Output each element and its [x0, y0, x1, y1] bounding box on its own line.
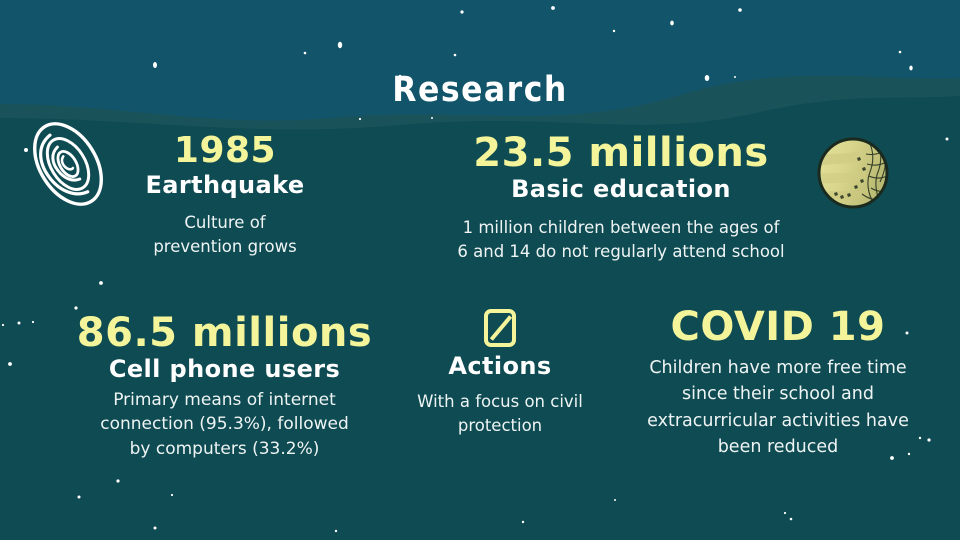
stat-body: Primary means of internet connection (95… — [52, 388, 397, 462]
stat-body: Culture of prevention grows — [100, 211, 350, 259]
stat-block-actions: Actions With a focus on civil protection — [398, 306, 602, 437]
stat-figure: 86.5 millions — [52, 312, 397, 355]
stat-figure: 23.5 millions — [418, 132, 824, 175]
stat-label: Basic education — [418, 176, 824, 204]
stat-block-covid: COVID 19 Children have more free time si… — [628, 306, 928, 460]
presentation-slide: Research 1985 Earthquake Culture of prev… — [0, 0, 960, 540]
stat-figure: COVID 19 — [628, 306, 928, 349]
stat-block-earthquake: 1985 Earthquake Culture of prevention gr… — [100, 132, 350, 259]
page-title: Research — [0, 70, 960, 110]
stat-figure — [398, 306, 602, 347]
stat-block-basic-education: 23.5 millions Basic education 1 million … — [418, 132, 824, 264]
slide-content: Research 1985 Earthquake Culture of prev… — [0, 0, 960, 540]
stat-block-cellphone: 86.5 millions Cell phone users Primary m… — [52, 312, 397, 462]
slashed-zero-icon — [484, 309, 516, 347]
stat-label: Cell phone users — [52, 356, 397, 384]
stat-body: Children have more free time since their… — [628, 355, 928, 460]
stat-body: 1 million children between the ages of 6… — [418, 216, 824, 264]
stat-label: Actions — [398, 353, 602, 381]
stat-figure: 1985 — [100, 132, 350, 171]
stat-body: With a focus on civil protection — [398, 390, 602, 438]
stat-label: Earthquake — [100, 172, 350, 200]
